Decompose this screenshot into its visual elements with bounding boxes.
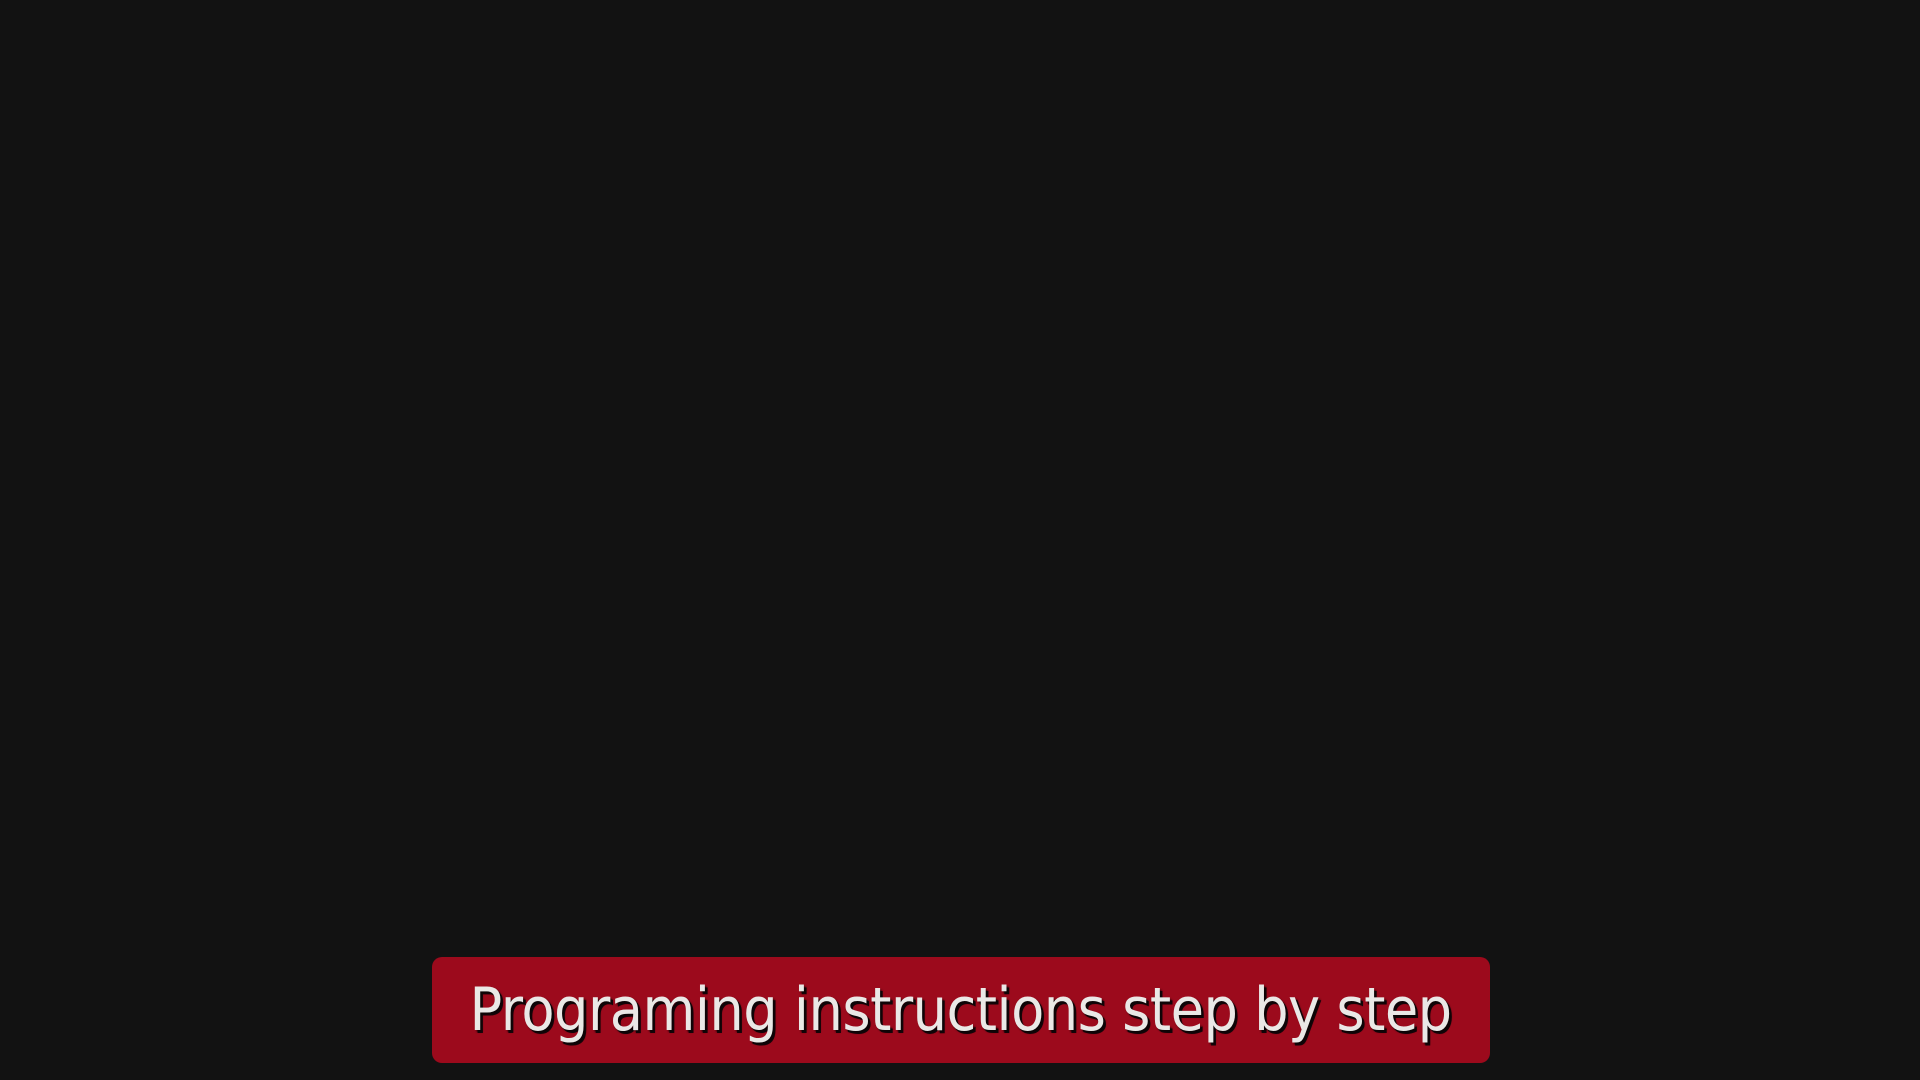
video-stage-area — [0, 0, 1920, 957]
screen-root: Programing instructions step by step — [0, 0, 1920, 1080]
caption-banner: Programing instructions step by step — [432, 957, 1490, 1063]
caption-text: Programing instructions step by step — [470, 980, 1452, 1040]
